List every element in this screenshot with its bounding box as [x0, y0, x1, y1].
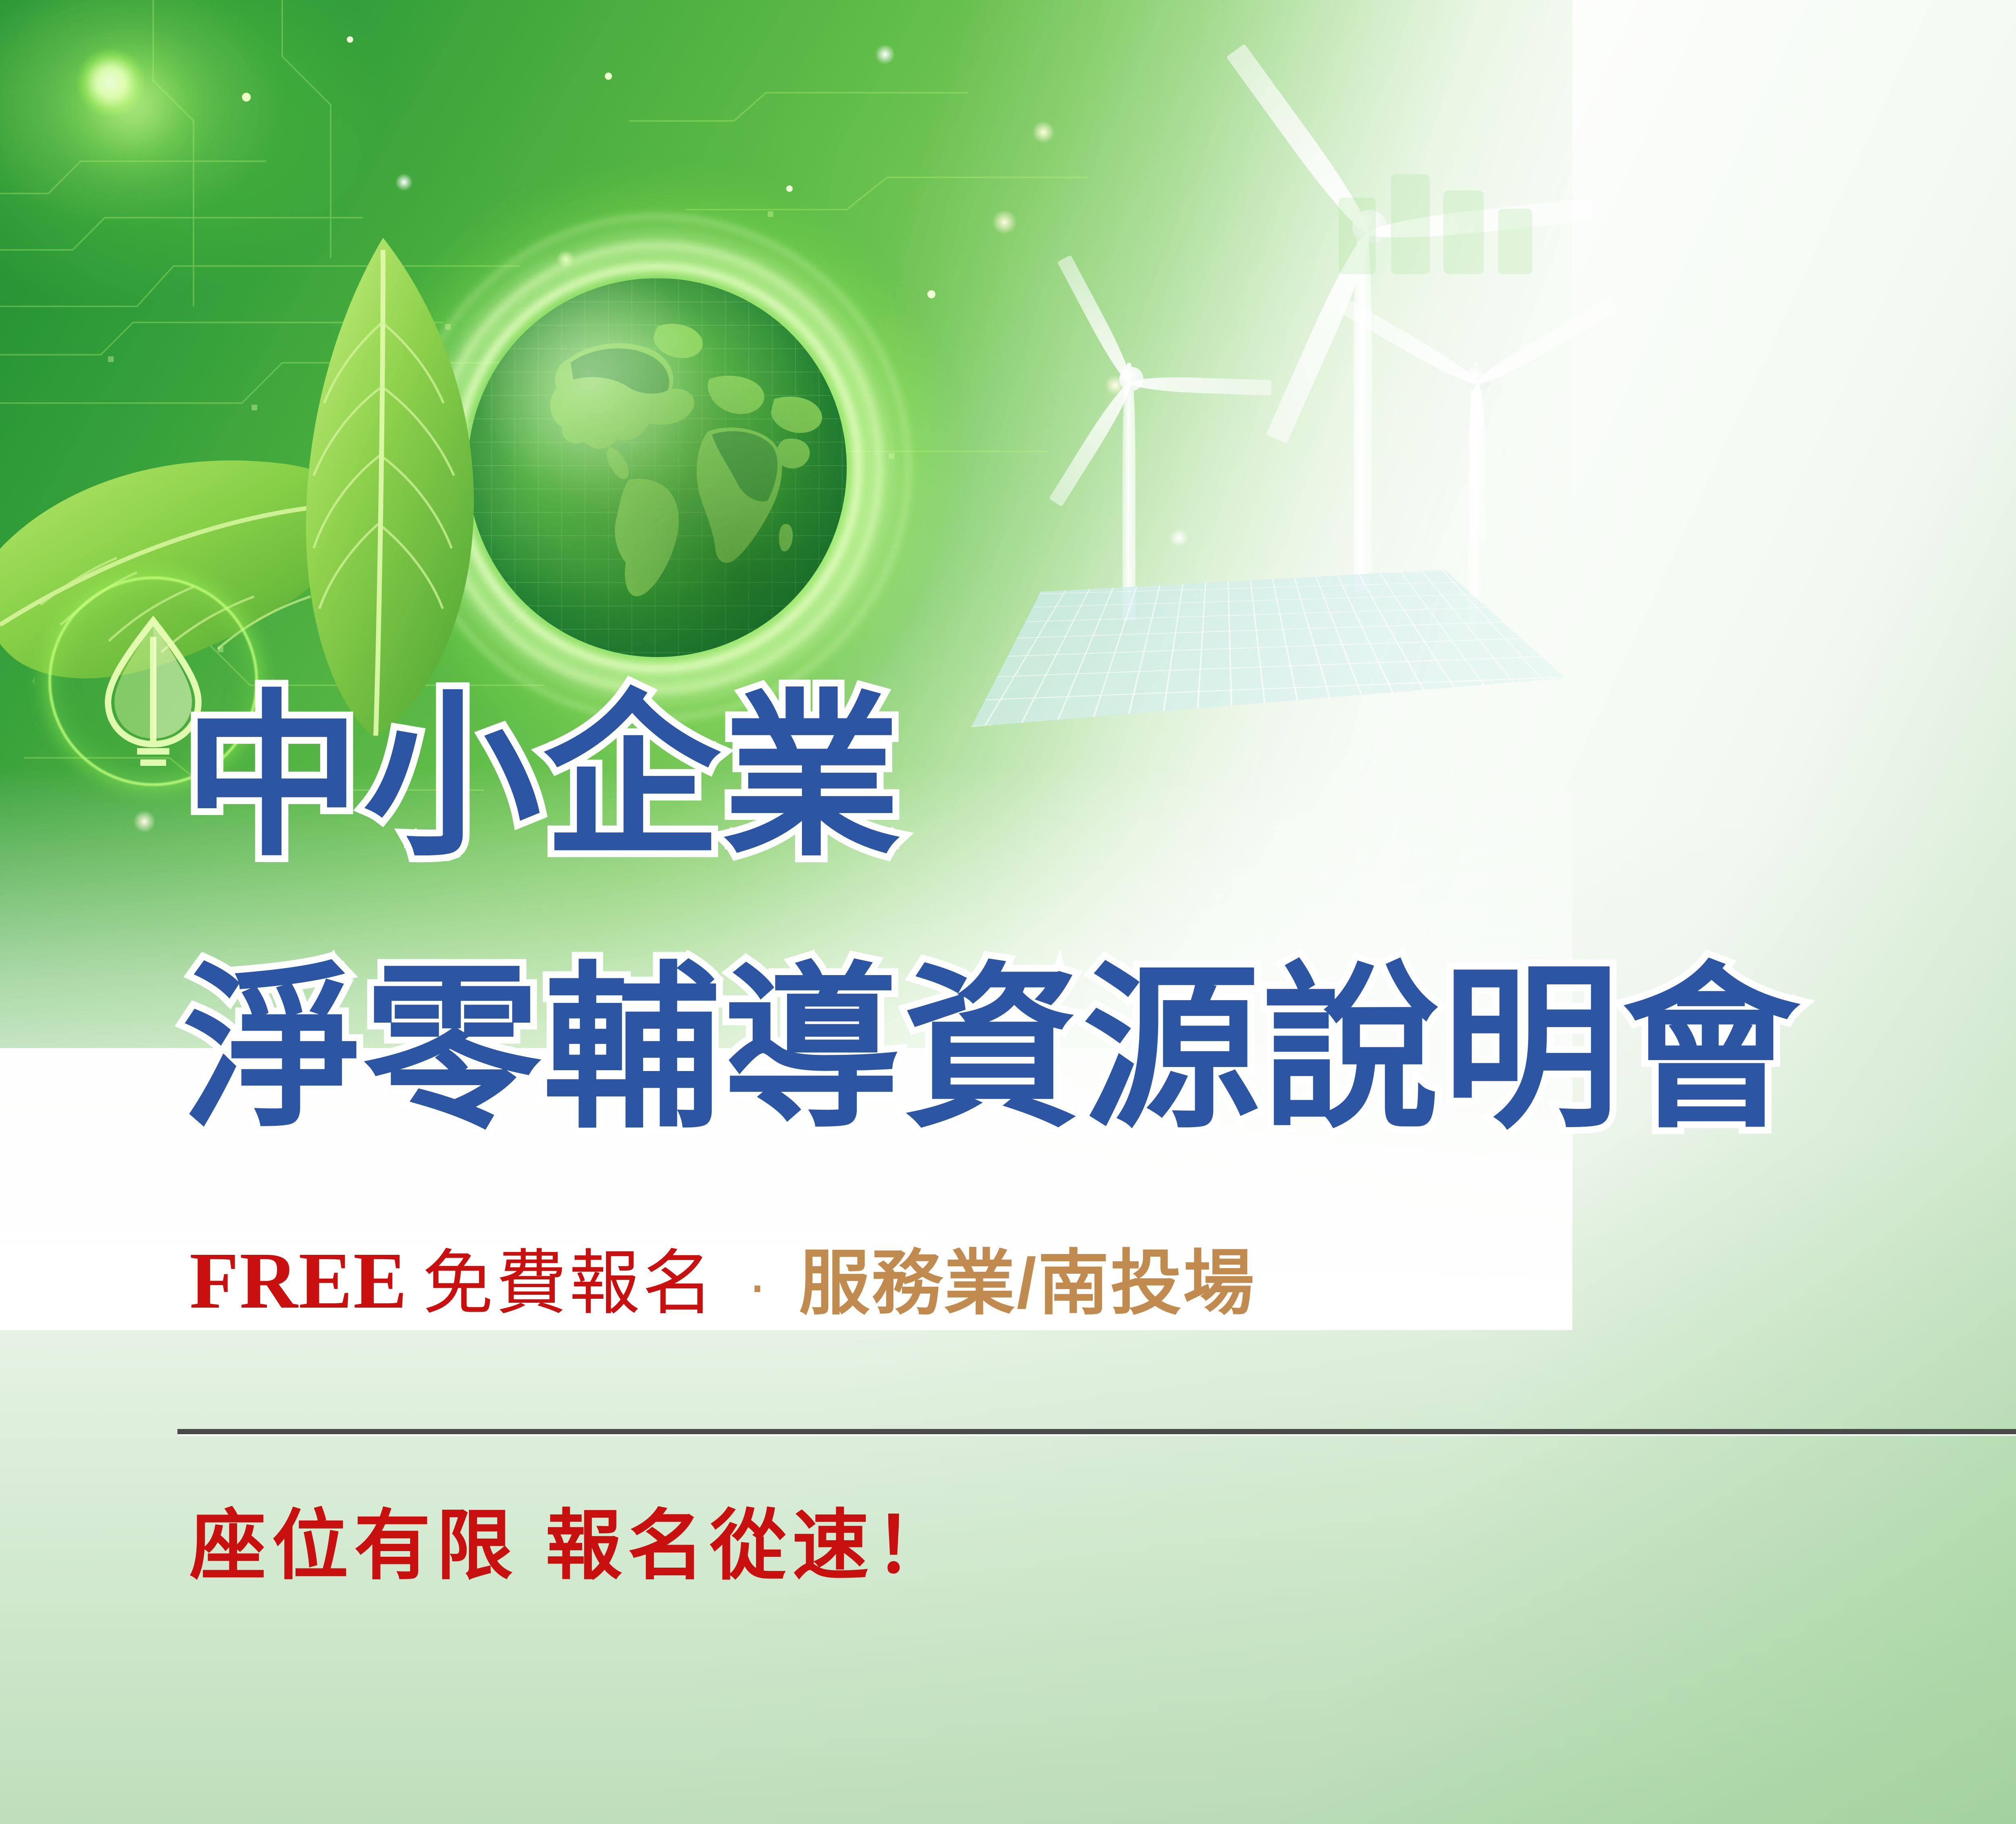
limited-seats-notice: 座位有限 報名從速！	[190, 1483, 957, 1594]
promotional-banner: 經濟部中小及新創企業署廣告 NANTOU 南投 115 年度中小企業循環共創計畫…	[0, 0, 2016, 1824]
horizontal-divider	[177, 1429, 2016, 1434]
main-title-line-2: 淨零輔導資源說明會	[183, 905, 1802, 1162]
free-label-zh: 免費報名	[422, 1225, 716, 1328]
building-silhouette-decoration	[1322, 137, 1621, 306]
wind-turbine-icon	[1331, 250, 1621, 629]
free-registration-row: FREE 免費報名 · 服務業/南投場	[190, 1225, 1256, 1328]
wind-turbine-icon	[1000, 258, 1258, 621]
free-label-en: FREE	[190, 1235, 408, 1327]
session-category: 服務業/南投場	[799, 1225, 1256, 1328]
main-title-line-1: 中小企業	[183, 633, 903, 890]
separator-dot: ·	[747, 1250, 767, 1319]
